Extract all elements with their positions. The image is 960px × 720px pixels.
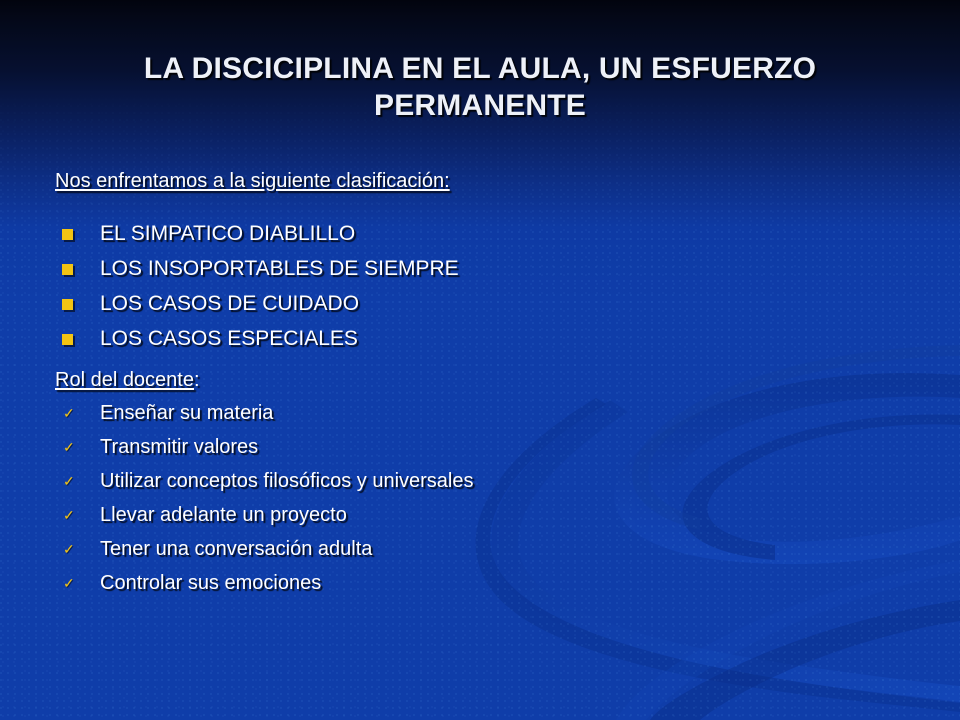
list-item-label: Enseñar su materia	[100, 402, 273, 424]
yellow-square-bullet-icon	[62, 264, 73, 275]
list-item: EL SIMPATICO DIABLILLO	[55, 216, 920, 251]
section-heading-suffix: :	[194, 369, 200, 391]
yellow-checkmark-icon: ✓	[63, 396, 77, 430]
list-item: ✓ Tener una conversación adulta	[55, 532, 920, 566]
list-item-label: LOS INSOPORTABLES DE SIEMPRE	[100, 257, 459, 280]
list-item: ✓ Transmitir valores	[55, 430, 920, 464]
list-item-label: EL SIMPATICO DIABLILLO	[100, 222, 355, 245]
list-item-label: Tener una conversación adulta	[100, 538, 372, 560]
yellow-square-bullet-icon	[62, 334, 73, 345]
section-heading-text: Rol del docente	[55, 369, 194, 391]
list-item-label: Utilizar conceptos filosóficos y univers…	[100, 470, 474, 492]
list-item-label: Controlar sus emociones	[100, 572, 321, 594]
slide-body: Nos enfrentamos a la siguiente clasifica…	[55, 168, 920, 600]
list-item-label: Llevar adelante un proyecto	[100, 504, 347, 526]
list-item: LOS CASOS DE CUIDADO	[55, 286, 920, 321]
list-item: ✓ Llevar adelante un proyecto	[55, 498, 920, 532]
yellow-checkmark-icon: ✓	[63, 430, 77, 464]
role-list: ✓ Enseñar su materia ✓ Transmitir valore…	[55, 396, 920, 600]
yellow-checkmark-icon: ✓	[63, 532, 77, 566]
lead-paragraph-text: Nos enfrentamos a la siguiente clasifica…	[55, 170, 450, 192]
list-item: ✓ Utilizar conceptos filosóficos y unive…	[55, 464, 920, 498]
yellow-square-bullet-icon	[62, 229, 73, 240]
yellow-checkmark-icon: ✓	[63, 566, 77, 600]
list-item: LOS CASOS ESPECIALES	[55, 321, 920, 356]
list-item-label: LOS CASOS DE CUIDADO	[100, 292, 359, 315]
list-item: ✓ Controlar sus emociones	[55, 566, 920, 600]
list-item-label: LOS CASOS ESPECIALES	[100, 327, 358, 350]
list-item: ✓ Enseñar su materia	[55, 396, 920, 430]
slide-title: LA DISCICIPLINA EN EL AULA, UN ESFUERZO …	[60, 50, 900, 124]
yellow-checkmark-icon: ✓	[63, 464, 77, 498]
section-heading: Rol del docente:	[55, 367, 920, 394]
presentation-slide: LA DISCICIPLINA EN EL AULA, UN ESFUERZO …	[0, 0, 960, 720]
list-item: LOS INSOPORTABLES DE SIEMPRE	[55, 251, 920, 286]
yellow-square-bullet-icon	[62, 299, 73, 310]
classification-list: EL SIMPATICO DIABLILLO LOS INSOPORTABLES…	[55, 216, 920, 356]
list-item-label: Transmitir valores	[100, 436, 258, 458]
lead-paragraph: Nos enfrentamos a la siguiente clasifica…	[55, 168, 920, 194]
yellow-checkmark-icon: ✓	[63, 498, 77, 532]
